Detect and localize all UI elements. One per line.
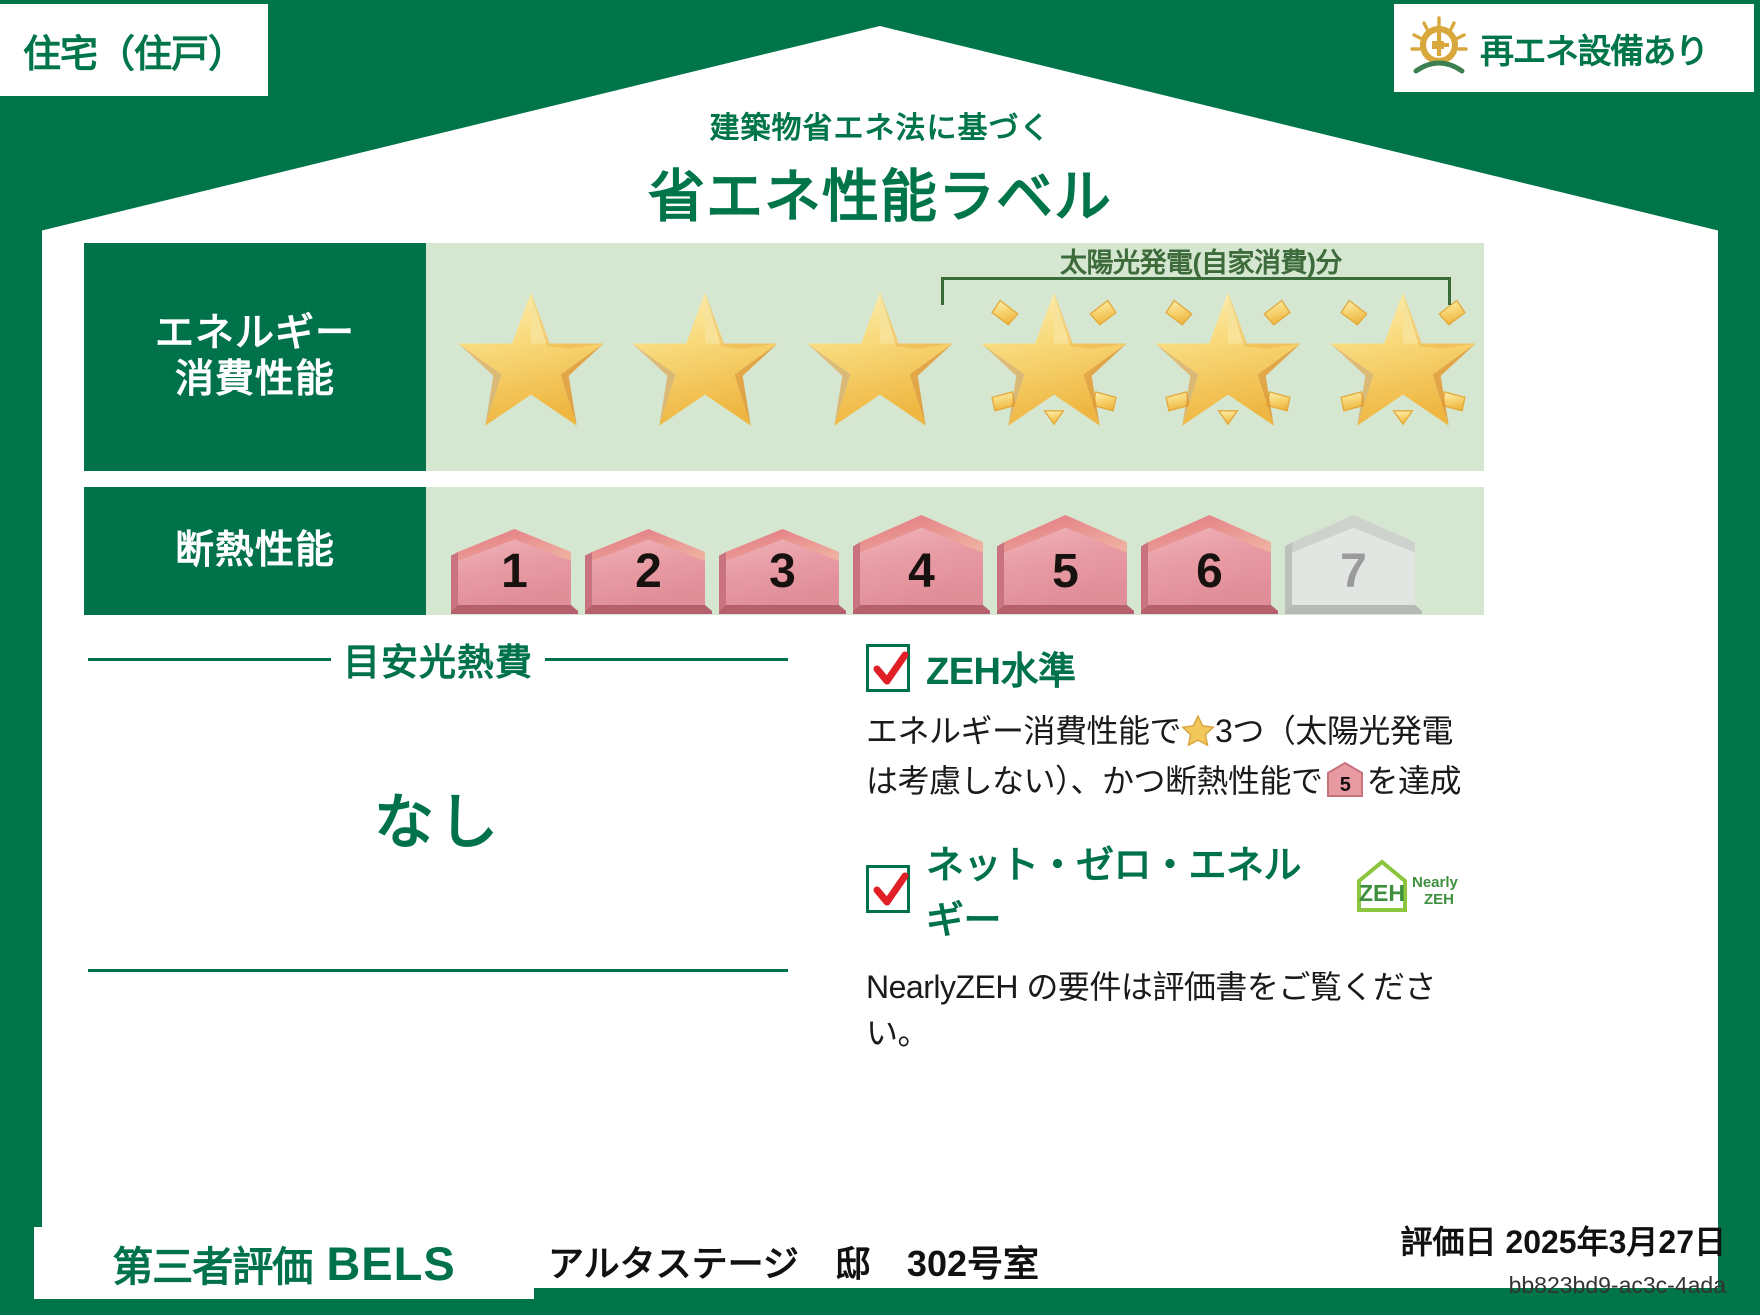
insulation-level-4: 4	[850, 511, 993, 615]
utility-cost-value: なし	[88, 774, 788, 861]
inline-house-level-icon: 5	[1325, 761, 1365, 811]
insulation-performance-row: 断熱性能	[84, 487, 1484, 615]
building-type-badge: 住宅（住戸）	[0, 4, 268, 96]
svg-text:ZEH: ZEH	[1359, 880, 1405, 906]
evaluation-date: 評価日 2025年3月27日	[1401, 1217, 1726, 1263]
insulation-level-2: 2	[582, 525, 715, 615]
evaluation-id: bb823bd9-ac3c-4ada	[1509, 1272, 1726, 1299]
insulation-row-body: 1	[426, 487, 1484, 615]
utility-cost-block: 目安光熱費 なし	[88, 632, 788, 972]
nearly-zeh-logo: ZEH Nearly ZEH	[1354, 857, 1486, 920]
energy-row-body: 太陽光発電(自家消費)分	[426, 243, 1484, 471]
renewable-badge-label: 再エネ設備あり	[1480, 24, 1708, 73]
zeh-block: ZEH水準 エネルギー消費性能で3つ（太陽光発電 は考慮しない）、かつ断熱性能で…	[866, 640, 1486, 1054]
energy-label-line1: エネルギー	[155, 311, 355, 357]
utility-cost-label: 目安光熱費	[343, 632, 533, 686]
insulation-row-label: 断熱性能	[84, 487, 426, 615]
insulation-level-7: 7	[1282, 511, 1425, 615]
net-zero-energy-headline: ネット・ゼロ・エネルギー ZEH Nearly ZEH	[866, 834, 1486, 944]
bels-en-label: BELS	[326, 1236, 455, 1291]
svg-text:ZEH: ZEH	[1424, 891, 1454, 908]
heading-rule-left	[88, 658, 331, 661]
insulation-level-6: 6	[1138, 511, 1281, 615]
utility-cost-bottom-rule	[88, 969, 788, 972]
zeh-standard-title: ZEH水準	[926, 640, 1076, 695]
insulation-level-group: 1	[426, 487, 1484, 615]
title-block: 建築物省エネ法に基づく 省エネ性能ラベル	[0, 103, 1760, 233]
bels-jp-label: 第三者評価	[112, 1233, 312, 1293]
zeh-standard-description: エネルギー消費性能で3つ（太陽光発電 は考慮しない）、かつ断熱性能で5を達成	[866, 709, 1486, 812]
zeh-desc-part1: エネルギー消費性能で	[866, 713, 1181, 749]
energy-label-line2: 消費性能	[175, 357, 335, 403]
footer: 第三者評価 BELS アルタステージ 邸 302号室 評価日 2025年3月27…	[0, 1217, 1760, 1315]
energy-row-label: エネルギー 消費性能	[84, 243, 426, 471]
zeh-desc-part3: を達成	[1367, 763, 1462, 799]
svg-text:5: 5	[1339, 774, 1350, 796]
title-subtitle: 建築物省エネ法に基づく	[0, 103, 1760, 147]
heading-rule-right	[545, 658, 788, 661]
solar-portion-caption: 太陽光発電(自家消費)分	[931, 241, 1471, 280]
nearly-zeh-note: NearlyZEH の要件は評価書をご覧ください。	[866, 962, 1486, 1054]
insulation-level-5: 5	[994, 511, 1137, 615]
star-icon-2	[624, 275, 786, 440]
building-name: アルタステージ 邸 302号室	[548, 1235, 1039, 1287]
energy-performance-row: エネルギー 消費性能 太陽光発電(自家消費)分	[84, 243, 1484, 471]
sun-plug-icon	[1408, 15, 1470, 82]
building-type-label: 住宅（住戸）	[23, 23, 245, 78]
insulation-level-3: 3	[716, 525, 849, 615]
utility-cost-heading: 目安光熱費	[88, 632, 788, 686]
insulation-label: 断熱性能	[175, 528, 335, 574]
bels-badge: 第三者評価 BELS	[34, 1227, 534, 1299]
net-zero-energy-checkbox[interactable]	[866, 865, 910, 913]
page-title: 省エネ性能ラベル	[0, 151, 1760, 233]
star-icon-1	[450, 275, 612, 440]
zeh-desc-star-count: 3つ（太陽光発電	[1215, 713, 1453, 749]
insulation-level-1: 1	[448, 525, 581, 615]
star-icon-3	[799, 275, 961, 440]
inline-star-icon	[1181, 714, 1215, 759]
solar-portion-bracket	[941, 277, 1451, 305]
zeh-standard-headline: ZEH水準	[866, 640, 1486, 695]
zeh-standard-checkbox[interactable]	[866, 644, 910, 692]
net-zero-energy-title: ネット・ゼロ・エネルギー	[926, 834, 1338, 944]
svg-text:Nearly: Nearly	[1412, 874, 1459, 891]
renewable-equipment-badge: 再エネ設備あり	[1394, 4, 1754, 92]
zeh-desc-part2: は考慮しない）、かつ断熱性能で	[866, 763, 1323, 799]
